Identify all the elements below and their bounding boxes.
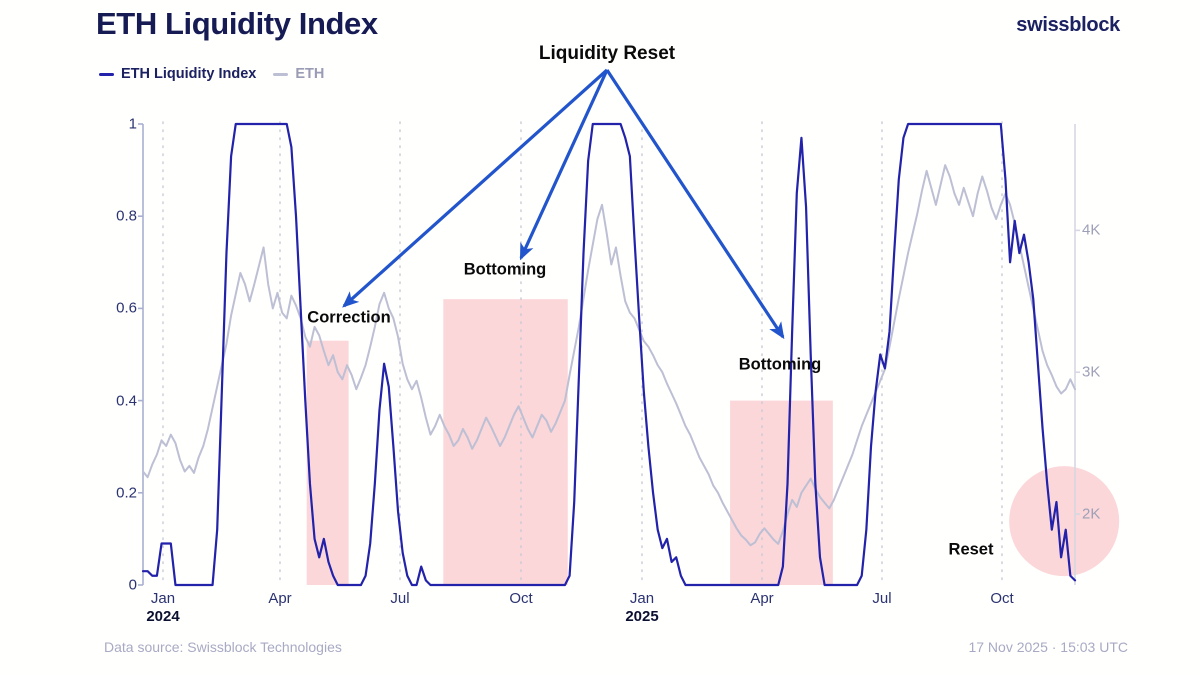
annotation-liquidity-reset: Liquidity Reset	[539, 43, 675, 65]
data-source-label: Data source: Swissblock Technologies	[104, 639, 342, 655]
x-tick-year: 2024	[146, 608, 179, 626]
x-tick-month: Oct	[509, 590, 532, 607]
x-tick-label: Oct	[990, 590, 1013, 608]
y-tick-label-right: 4K	[1082, 222, 1100, 239]
x-tick-month: Jan	[151, 590, 175, 607]
x-tick-month: Jul	[872, 590, 891, 607]
series-line-eth	[143, 165, 1075, 545]
shaded-region-bottoming	[443, 299, 567, 585]
annotation-correction: Correction	[307, 309, 390, 328]
arrow-to-bottoming-1	[521, 70, 607, 258]
annotation-bottoming-1: Bottoming	[464, 261, 546, 280]
y-tick-label-right: 3K	[1082, 364, 1100, 381]
highlight-circle-reset	[1009, 466, 1119, 576]
annotation-reset: Reset	[949, 541, 994, 560]
x-tick-month: Oct	[990, 590, 1013, 607]
series-line-liquidity-index	[143, 124, 1075, 585]
x-tick-month: Apr	[750, 590, 773, 607]
y-tick-label-right: 2K	[1082, 506, 1100, 523]
y-tick-label-left: 0.2	[116, 484, 137, 501]
y-tick-label-left: 0.6	[116, 300, 137, 317]
y-tick-label-left: 0.8	[116, 208, 137, 225]
chart-canvas	[0, 0, 1200, 675]
x-tick-label: Jul	[872, 590, 891, 608]
y-tick-label-left: 1	[129, 116, 137, 133]
x-tick-month: Apr	[268, 590, 291, 607]
x-tick-label: Jan2024	[146, 590, 179, 625]
y-tick-label-left: 0	[129, 577, 137, 594]
x-tick-label: Apr	[750, 590, 773, 608]
x-tick-label: Oct	[509, 590, 532, 608]
x-tick-label: Jan2025	[625, 590, 658, 625]
x-tick-year: 2025	[625, 608, 658, 626]
x-tick-month: Jul	[390, 590, 409, 607]
x-tick-month: Jan	[630, 590, 654, 607]
y-tick-label-left: 0.4	[116, 392, 137, 409]
timestamp-label: 17 Nov 2025 · 15:03 UTC	[968, 639, 1128, 655]
x-tick-label: Apr	[268, 590, 291, 608]
chart-page: ETH Liquidity Index swissblock ETH Liqui…	[0, 0, 1200, 675]
x-tick-label: Jul	[390, 590, 409, 608]
annotation-bottoming-2: Bottoming	[739, 356, 821, 375]
